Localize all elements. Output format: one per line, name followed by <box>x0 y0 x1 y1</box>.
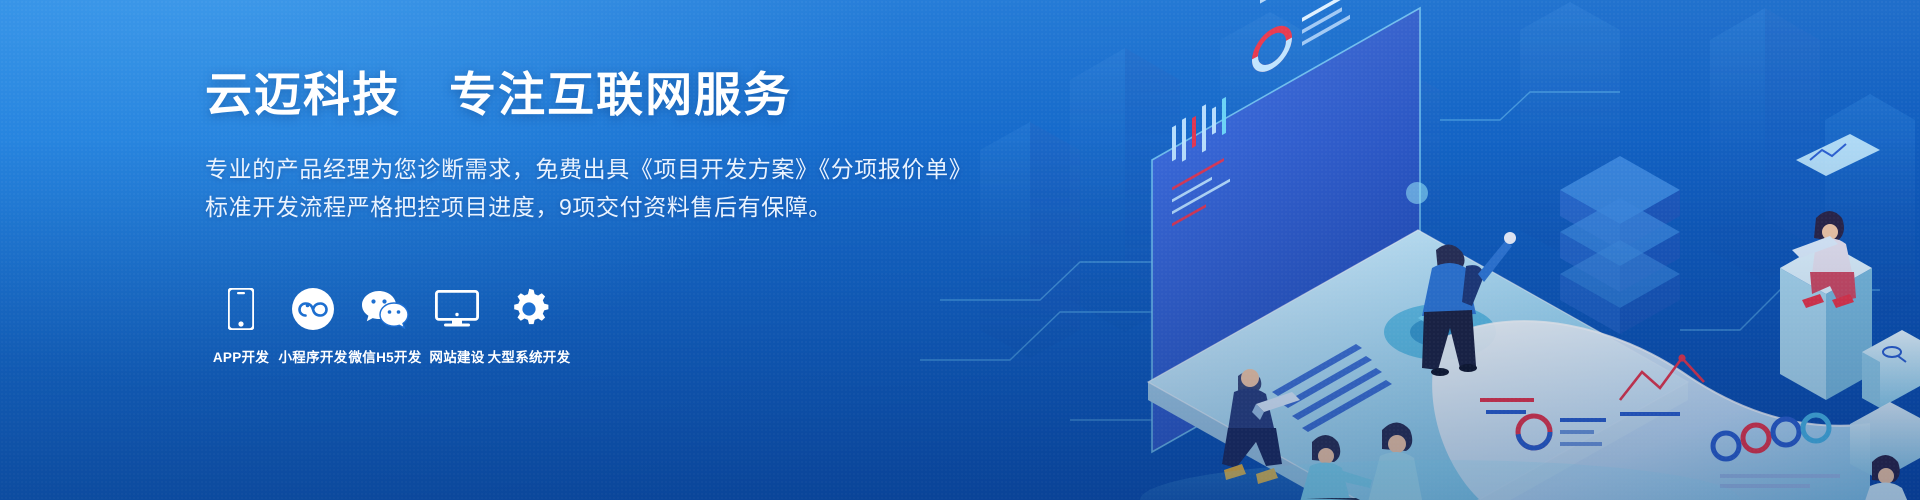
headline-brand: 云迈科技 <box>205 68 401 121</box>
service-item-large-system[interactable]: 大型系统开发 <box>493 286 565 366</box>
service-label: 大型系统开发 <box>488 346 571 366</box>
service-item-website[interactable]: 网站建设 <box>421 286 493 366</box>
service-item-wechat-h5[interactable]: 微信H5开发 <box>349 286 421 366</box>
service-list: APP开发 小程序开发 <box>205 286 565 366</box>
promo-banner: 云迈科技 专注互联网服务 专业的产品经理为您诊断需求，免费出具《项目开发方案》《… <box>0 0 1920 500</box>
service-item-app[interactable]: APP开发 <box>205 286 277 366</box>
wechat-icon <box>361 286 409 332</box>
gear-icon <box>508 286 550 332</box>
service-label: 网站建设 <box>429 346 484 366</box>
mobile-phone-icon <box>228 286 254 332</box>
service-label: APP开发 <box>213 346 269 366</box>
page-title: 云迈科技 专注互联网服务 <box>205 68 905 122</box>
headline-tagline: 专注互联网服务 <box>449 68 792 121</box>
banner-copy: 云迈科技 专注互联网服务 专业的产品经理为您诊断需求，免费出具《项目开发方案》《… <box>205 68 905 226</box>
mini-program-icon <box>292 286 334 332</box>
service-item-mini-program[interactable]: 小程序开发 <box>277 286 349 366</box>
subtitle-line-2: 标准开发流程严格把控项目进度，9项交付资料售后有保障。 <box>205 188 905 226</box>
banner-subtitle: 专业的产品经理为您诊断需求，免费出具《项目开发方案》《分项报价单》 标准开发流程… <box>205 150 905 226</box>
service-label: 小程序开发 <box>279 346 348 366</box>
monitor-icon <box>435 286 479 332</box>
illustration-isometric-data-platform <box>920 0 1920 500</box>
stacked-server-blocks <box>1560 156 1680 334</box>
service-label: 微信H5开发 <box>348 346 421 366</box>
subtitle-line-1: 专业的产品经理为您诊断需求，免费出具《项目开发方案》《分项报价单》 <box>205 150 905 188</box>
